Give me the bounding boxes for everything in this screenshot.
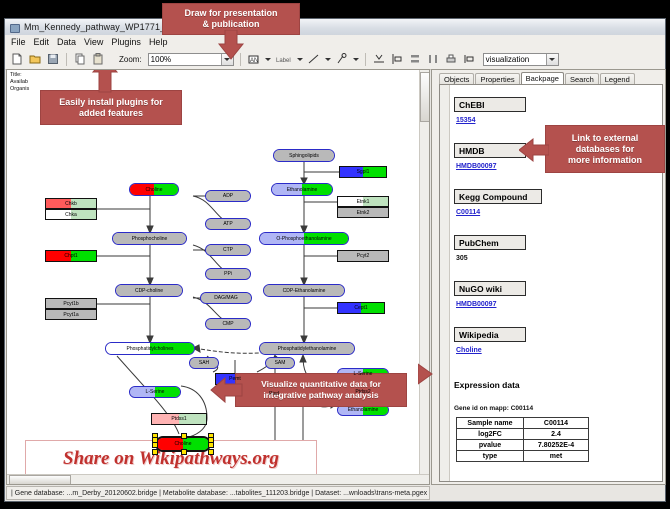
info-organism-label: Organis <box>10 86 29 93</box>
pathway-info-labels: Title: Availab Organis <box>10 72 29 93</box>
paste-icon[interactable] <box>91 52 105 66</box>
gene-node[interactable]: Etnk2 <box>337 207 389 218</box>
node-label: Pemt <box>229 376 241 382</box>
status-bar: | Gene database: ...m_Derby_20120602.bri… <box>6 486 430 500</box>
gene-node[interactable]: Ptdss1 <box>151 413 207 425</box>
callout-links-text: Link to external databases for more info… <box>568 133 642 166</box>
node-label: Chkb <box>65 201 77 207</box>
toolbar: Zoom: 100% AN Label <box>5 49 665 70</box>
metabolite-node[interactable]: PPi <box>205 268 251 280</box>
label-icon[interactable]: Label <box>275 52 293 66</box>
pathway-canvas[interactable]: Title: Availab Organis <box>6 69 430 485</box>
gene-node[interactable]: Sgpl1 <box>339 166 387 178</box>
database-header: NuGO wiki <box>454 281 526 296</box>
callout-links: Link to external databases for more info… <box>545 125 665 173</box>
expression-key: log2FC <box>457 429 524 440</box>
selection-handle[interactable] <box>181 433 187 439</box>
node-label: Pcyt2 <box>357 253 370 259</box>
canvas-vscroll-thumb[interactable] <box>420 72 430 122</box>
gene-node[interactable]: Pcyt1b <box>45 298 97 309</box>
node-label: Etnk2 <box>357 210 370 216</box>
anchor-chevron-icon[interactable] <box>353 58 359 61</box>
expression-key: type <box>457 451 524 462</box>
node-label: Choline <box>175 441 192 447</box>
database-header: Wikipedia <box>454 327 526 342</box>
gene-id-on-mapp-label: Gene id on mapp: C00114 <box>454 405 533 412</box>
node-label: SAM <box>275 360 286 366</box>
metabolite-node[interactable]: SAH <box>189 357 219 369</box>
metabolite-node[interactable]: Sphingolipids <box>273 149 335 162</box>
gene-node[interactable]: Cept1 <box>337 302 385 314</box>
datanode-chevron-icon[interactable] <box>265 58 271 61</box>
expression-value: 7.80252E-4 <box>524 440 589 451</box>
database-link[interactable]: C00114 <box>456 209 480 216</box>
gene-node[interactable]: Pcyt2 <box>337 250 389 262</box>
expression-value: met <box>524 451 589 462</box>
toolbar-separator-1 <box>66 53 67 66</box>
callout-plugins-text: Easily install plugins for added feature… <box>59 97 163 119</box>
window-title-bar: Mm_Kennedy_pathway_WP1771_45176.gpml <box>5 19 665 36</box>
expression-value: 2.4 <box>524 429 589 440</box>
svg-text:Label: Label <box>276 58 291 64</box>
node-label: Ethanolamine <box>348 407 379 413</box>
node-label: Pcyt1a <box>63 312 78 318</box>
visualization-combo[interactable]: visualization <box>483 53 559 66</box>
toolbar-separator-3 <box>365 53 366 66</box>
gene-node[interactable]: Chkb <box>45 198 97 209</box>
node-label: Chpt1 <box>64 253 77 259</box>
metabolite-node[interactable]: CDP-choline <box>115 284 183 297</box>
gene-node[interactable]: Pcyt1a <box>45 309 97 320</box>
node-label: Cept1 <box>354 305 367 311</box>
datanode-icon[interactable]: AN <box>247 52 261 66</box>
metabolite-node[interactable]: CDP-Ethanolamine <box>263 284 345 297</box>
gene-node[interactable]: Etnk1 <box>337 196 389 207</box>
node-label: Sphingolipids <box>289 153 319 159</box>
node-label: Ethanolamine <box>287 187 318 193</box>
label-chevron-icon[interactable] <box>297 58 303 61</box>
save-icon[interactable] <box>46 52 60 66</box>
node-label: L-Serine <box>146 389 165 395</box>
print-icon[interactable] <box>444 52 458 66</box>
metabolite-node[interactable]: L-Serine <box>129 386 181 398</box>
database-header: PubChem <box>454 235 526 250</box>
database-value: 305 <box>456 255 468 262</box>
metabolite-node[interactable]: Ethanolamine <box>271 183 333 196</box>
table-row: pvalue 7.80252E-4 <box>457 440 589 451</box>
database-header: HMDB <box>454 143 526 158</box>
open-icon[interactable] <box>28 52 42 66</box>
node-label: Phosphatidylcholines <box>127 346 174 352</box>
node-label: SAH <box>199 360 209 366</box>
metabolite-node[interactable]: ADP <box>205 190 251 202</box>
node-label: Etnk1 <box>357 199 370 205</box>
info-title-label: Title: <box>10 72 29 79</box>
menu-item-view[interactable]: View <box>84 37 103 47</box>
stack-icon[interactable] <box>408 52 422 66</box>
node-label: Chka <box>65 212 77 218</box>
expression-key: Sample name <box>457 418 524 429</box>
gene-node[interactable]: Chka <box>45 209 97 220</box>
expression-data-heading: Expression data <box>454 380 520 390</box>
pathvisio-window: Mm_Kennedy_pathway_WP1771_45176.gpml Fil… <box>4 18 666 502</box>
expression-table: Sample name C00114 log2FC 2.4 pvalue 7.8… <box>456 417 589 462</box>
node-label: DAG/MAG <box>214 295 238 301</box>
node-label: L-Serine <box>354 371 373 377</box>
expression-key: pvalue <box>457 440 524 451</box>
menu-item-help[interactable]: Help <box>149 37 168 47</box>
app-icon <box>10 23 19 32</box>
metabolite-node[interactable]: Phosphocholine <box>112 232 187 245</box>
database-header: Kegg Compound <box>454 189 542 204</box>
node-label: ADP <box>223 193 233 199</box>
line-icon[interactable] <box>307 52 321 66</box>
database-link[interactable]: HMDB00097 <box>456 163 496 170</box>
selection-handle[interactable] <box>181 449 187 455</box>
metabolite-node[interactable]: Phosphatidylethanolamine <box>259 342 355 355</box>
visualization-chevron-down-icon[interactable] <box>546 54 558 65</box>
node-label: Choline <box>146 187 163 193</box>
node-label: CDP-Ethanolamine <box>283 288 326 294</box>
metabolite-node[interactable]: DAG/MAG <box>200 292 252 304</box>
expression-value: C00114 <box>524 418 589 429</box>
visualization-value: visualization <box>486 55 530 64</box>
status-bar-text: | Gene database: ...m_Derby_20120602.bri… <box>11 490 427 497</box>
align-icon[interactable] <box>372 52 386 66</box>
node-label: Sgpl1 <box>357 169 370 175</box>
node-label: CMP <box>222 321 233 327</box>
node-label: Pcyt1b <box>63 301 78 307</box>
node-label: PPi <box>224 271 232 277</box>
anchor-icon[interactable] <box>335 52 349 66</box>
node-label: ATP <box>223 221 232 227</box>
canvas-hscroll-thumb[interactable] <box>9 475 71 485</box>
metabolite-node[interactable]: O-Phosphoethanolamine <box>259 232 349 245</box>
metabolite-node[interactable]: CMP <box>205 318 251 330</box>
node-label: Pisd <box>269 391 279 397</box>
database-link[interactable]: 15354 <box>456 117 475 124</box>
node-label: Phosphatidylethanolamine <box>278 346 337 352</box>
table-row: type met <box>457 451 589 462</box>
selection-handle[interactable] <box>208 437 214 443</box>
gene-node[interactable]: Chpt1 <box>45 250 97 262</box>
callout-visualize: Visualize quantitative data for integrat… <box>235 373 407 407</box>
group-icon[interactable] <box>390 52 404 66</box>
zoom-value: 100% <box>151 55 171 64</box>
canvas-horizontal-scrollbar[interactable] <box>7 474 429 484</box>
table-row: Sample name C00114 <box>457 418 589 429</box>
zoom-label: Zoom: <box>119 55 142 64</box>
new-icon[interactable] <box>10 52 24 66</box>
database-link[interactable]: Choline <box>456 347 482 354</box>
menu-item-data[interactable]: Data <box>57 37 76 47</box>
order-icon[interactable] <box>462 52 476 66</box>
metabolite-node[interactable]: CTP <box>205 244 251 256</box>
selection-handle[interactable] <box>208 449 214 455</box>
node-label: CTP <box>223 247 233 253</box>
panel-scrollbar[interactable] <box>440 85 450 481</box>
info-available-label: Availab <box>10 79 29 86</box>
selection-handle[interactable] <box>152 449 158 455</box>
svg-text:AN: AN <box>250 58 258 64</box>
node-label: CDP-choline <box>135 288 163 294</box>
node-label: Ptdss1 <box>171 416 186 422</box>
metabolite-node[interactable]: SAM <box>265 357 295 369</box>
database-header: ChEBI <box>454 97 526 112</box>
node-label: Ptdss2 <box>355 389 370 395</box>
node-label: Phosphocholine <box>132 236 168 242</box>
selection-handle[interactable] <box>152 437 158 443</box>
node-label: O-Phosphoethanolamine <box>276 236 331 242</box>
database-link[interactable]: HMDB00097 <box>456 301 496 308</box>
distribute-icon[interactable] <box>426 52 440 66</box>
metabolite-node[interactable]: Choline <box>129 183 179 196</box>
menu-item-file[interactable]: File <box>11 37 26 47</box>
menu-item-edit[interactable]: Edit <box>34 37 50 47</box>
metabolite-node[interactable]: ATP <box>205 218 251 230</box>
line-chevron-icon[interactable] <box>325 58 331 61</box>
menu-bar: File Edit Data View Plugins Help <box>5 35 665 50</box>
copy-icon[interactable] <box>73 52 87 66</box>
callout-draw-text: Draw for presentation & publication <box>184 8 277 30</box>
table-row: log2FC 2.4 <box>457 429 589 440</box>
metabolite-node[interactable]: Phosphatidylcholines <box>105 342 195 355</box>
menu-item-plugins[interactable]: Plugins <box>111 37 141 47</box>
screenshot-root: Mm_Kennedy_pathway_WP1771_45176.gpml Fil… <box>0 0 670 509</box>
canvas-vertical-scrollbar[interactable] <box>419 70 429 484</box>
